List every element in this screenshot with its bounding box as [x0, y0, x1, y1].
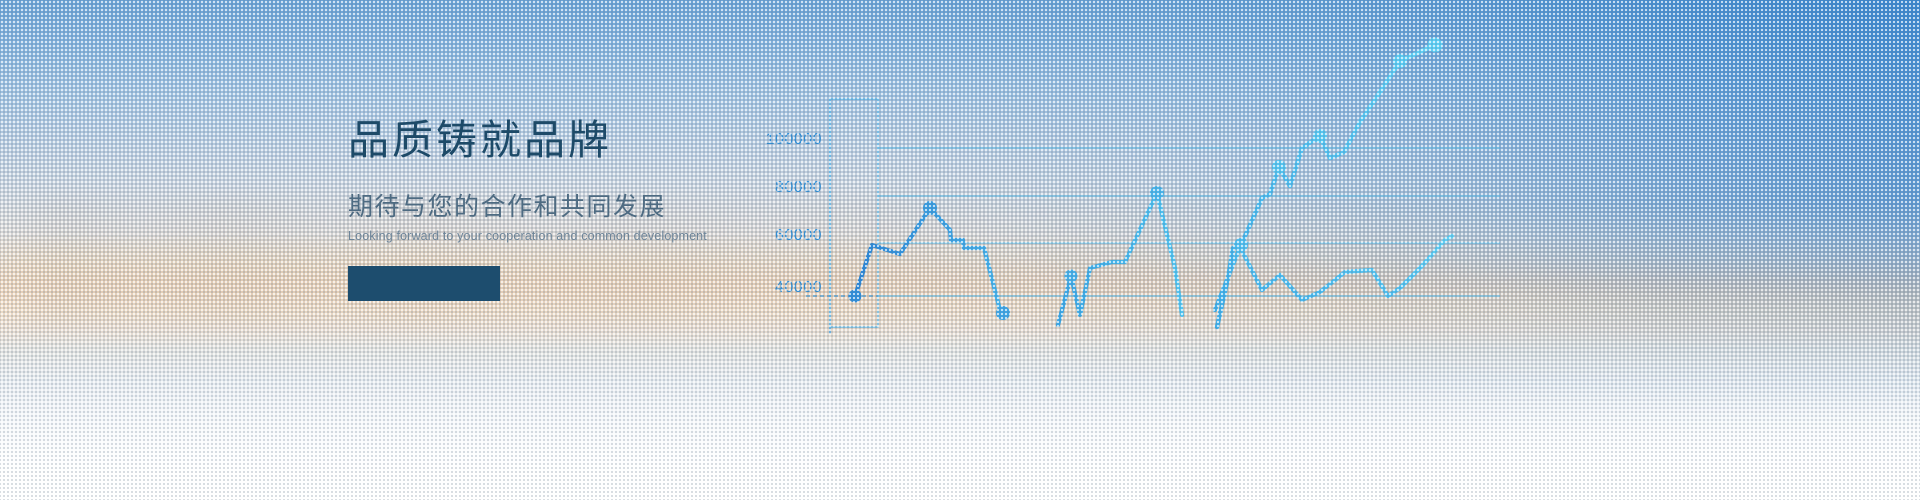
banner-copy: 品质铸就品牌 期待与您的合作和共同发展 Looking forward to y…: [348, 118, 868, 301]
promo-banner: 100000 80000 60000 40000: [0, 0, 1920, 500]
banner-headline: 品质铸就品牌: [348, 118, 868, 164]
background-blue-overlay: [0, 0, 1920, 500]
banner-subheadline: 期待与您的合作和共同发展: [348, 192, 868, 222]
banner-cta-button[interactable]: [348, 266, 500, 301]
banner-subheadline-en: Looking forward to your cooperation and …: [348, 228, 868, 244]
